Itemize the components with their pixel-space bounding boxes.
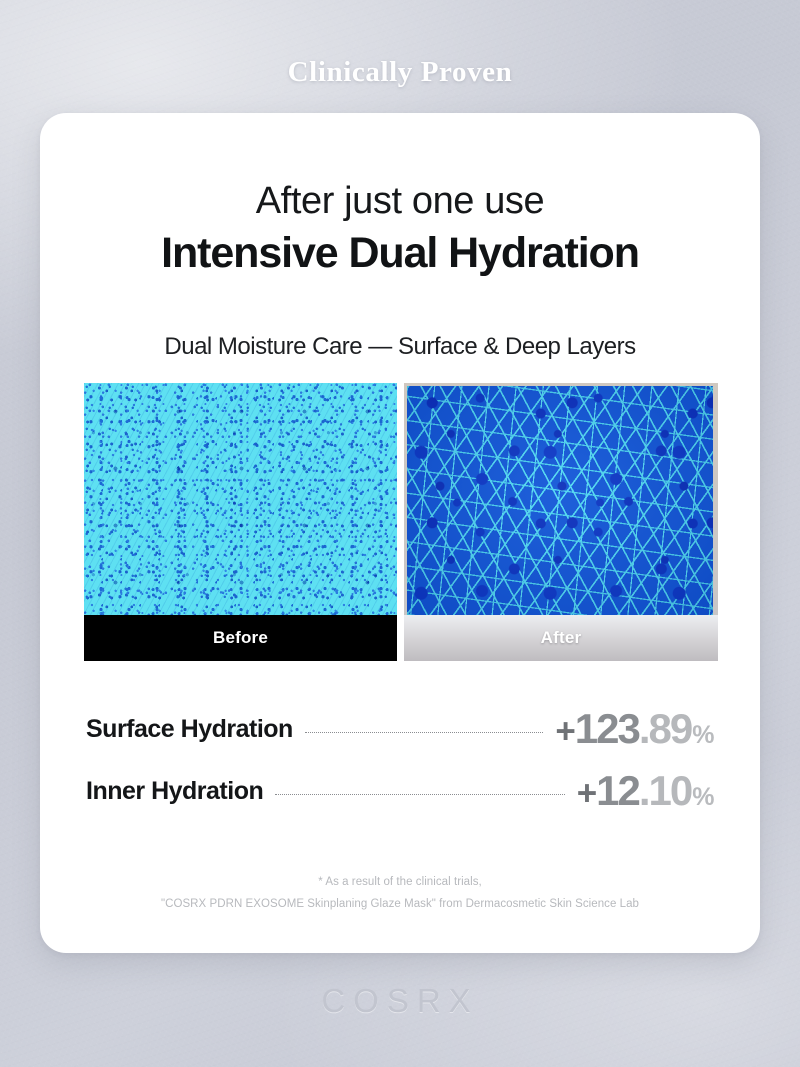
value-percent-sign: % (692, 783, 714, 812)
dotted-leader (305, 732, 544, 733)
promo-page: Clinically Proven After just one use Int… (0, 0, 800, 1067)
footnote-line-1: * As a result of the clinical trials, (40, 871, 760, 893)
result-label: Surface Hydration (86, 715, 293, 744)
footnote-block: * As a result of the clinical trials, "C… (40, 871, 760, 916)
banner-title: Clinically Proven (0, 56, 800, 89)
content-card: After just one use Intensive Dual Hydrat… (40, 113, 760, 953)
after-image (404, 383, 718, 615)
after-skin-microscopy-image (407, 386, 713, 615)
before-after-comparison: Before After (84, 383, 718, 661)
result-label: Inner Hydration (86, 777, 263, 806)
value-integer: 12 (596, 767, 639, 815)
before-panel: Before (84, 383, 397, 661)
headline-main: Intensive Dual Hydration (40, 229, 760, 279)
after-panel: After (404, 383, 718, 661)
after-image-frame (407, 386, 713, 615)
value-plus-sign: + (555, 712, 574, 752)
result-row-surface-hydration: Surface Hydration + 123 .89 % (86, 698, 714, 760)
results-list: Surface Hydration + 123 .89 % Inner Hydr… (86, 698, 714, 822)
after-label: After (404, 615, 718, 661)
before-image (84, 383, 397, 615)
headline-block: After just one use Intensive Dual Hydrat… (40, 179, 760, 279)
value-integer: 123 (575, 705, 639, 753)
dotted-leader (275, 794, 564, 795)
value-plus-sign: + (577, 774, 596, 814)
value-decimal: .10 (639, 767, 691, 815)
subheading: Dual Moisture Care — Surface & Deep Laye… (40, 333, 760, 361)
result-value: + 123 .89 % (555, 705, 714, 753)
value-percent-sign: % (692, 721, 714, 750)
before-skin-microscopy-image (84, 383, 397, 615)
brand-logo: COSRX (0, 982, 800, 1020)
footnote-line-2: "COSRX PDRN EXOSOME Skinplaning Glaze Ma… (40, 893, 760, 915)
value-decimal: .89 (639, 705, 691, 753)
result-value: + 12 .10 % (577, 767, 714, 815)
before-label: Before (84, 615, 397, 661)
result-row-inner-hydration: Inner Hydration + 12 .10 % (86, 760, 714, 822)
headline-subtitle: After just one use (40, 179, 760, 224)
